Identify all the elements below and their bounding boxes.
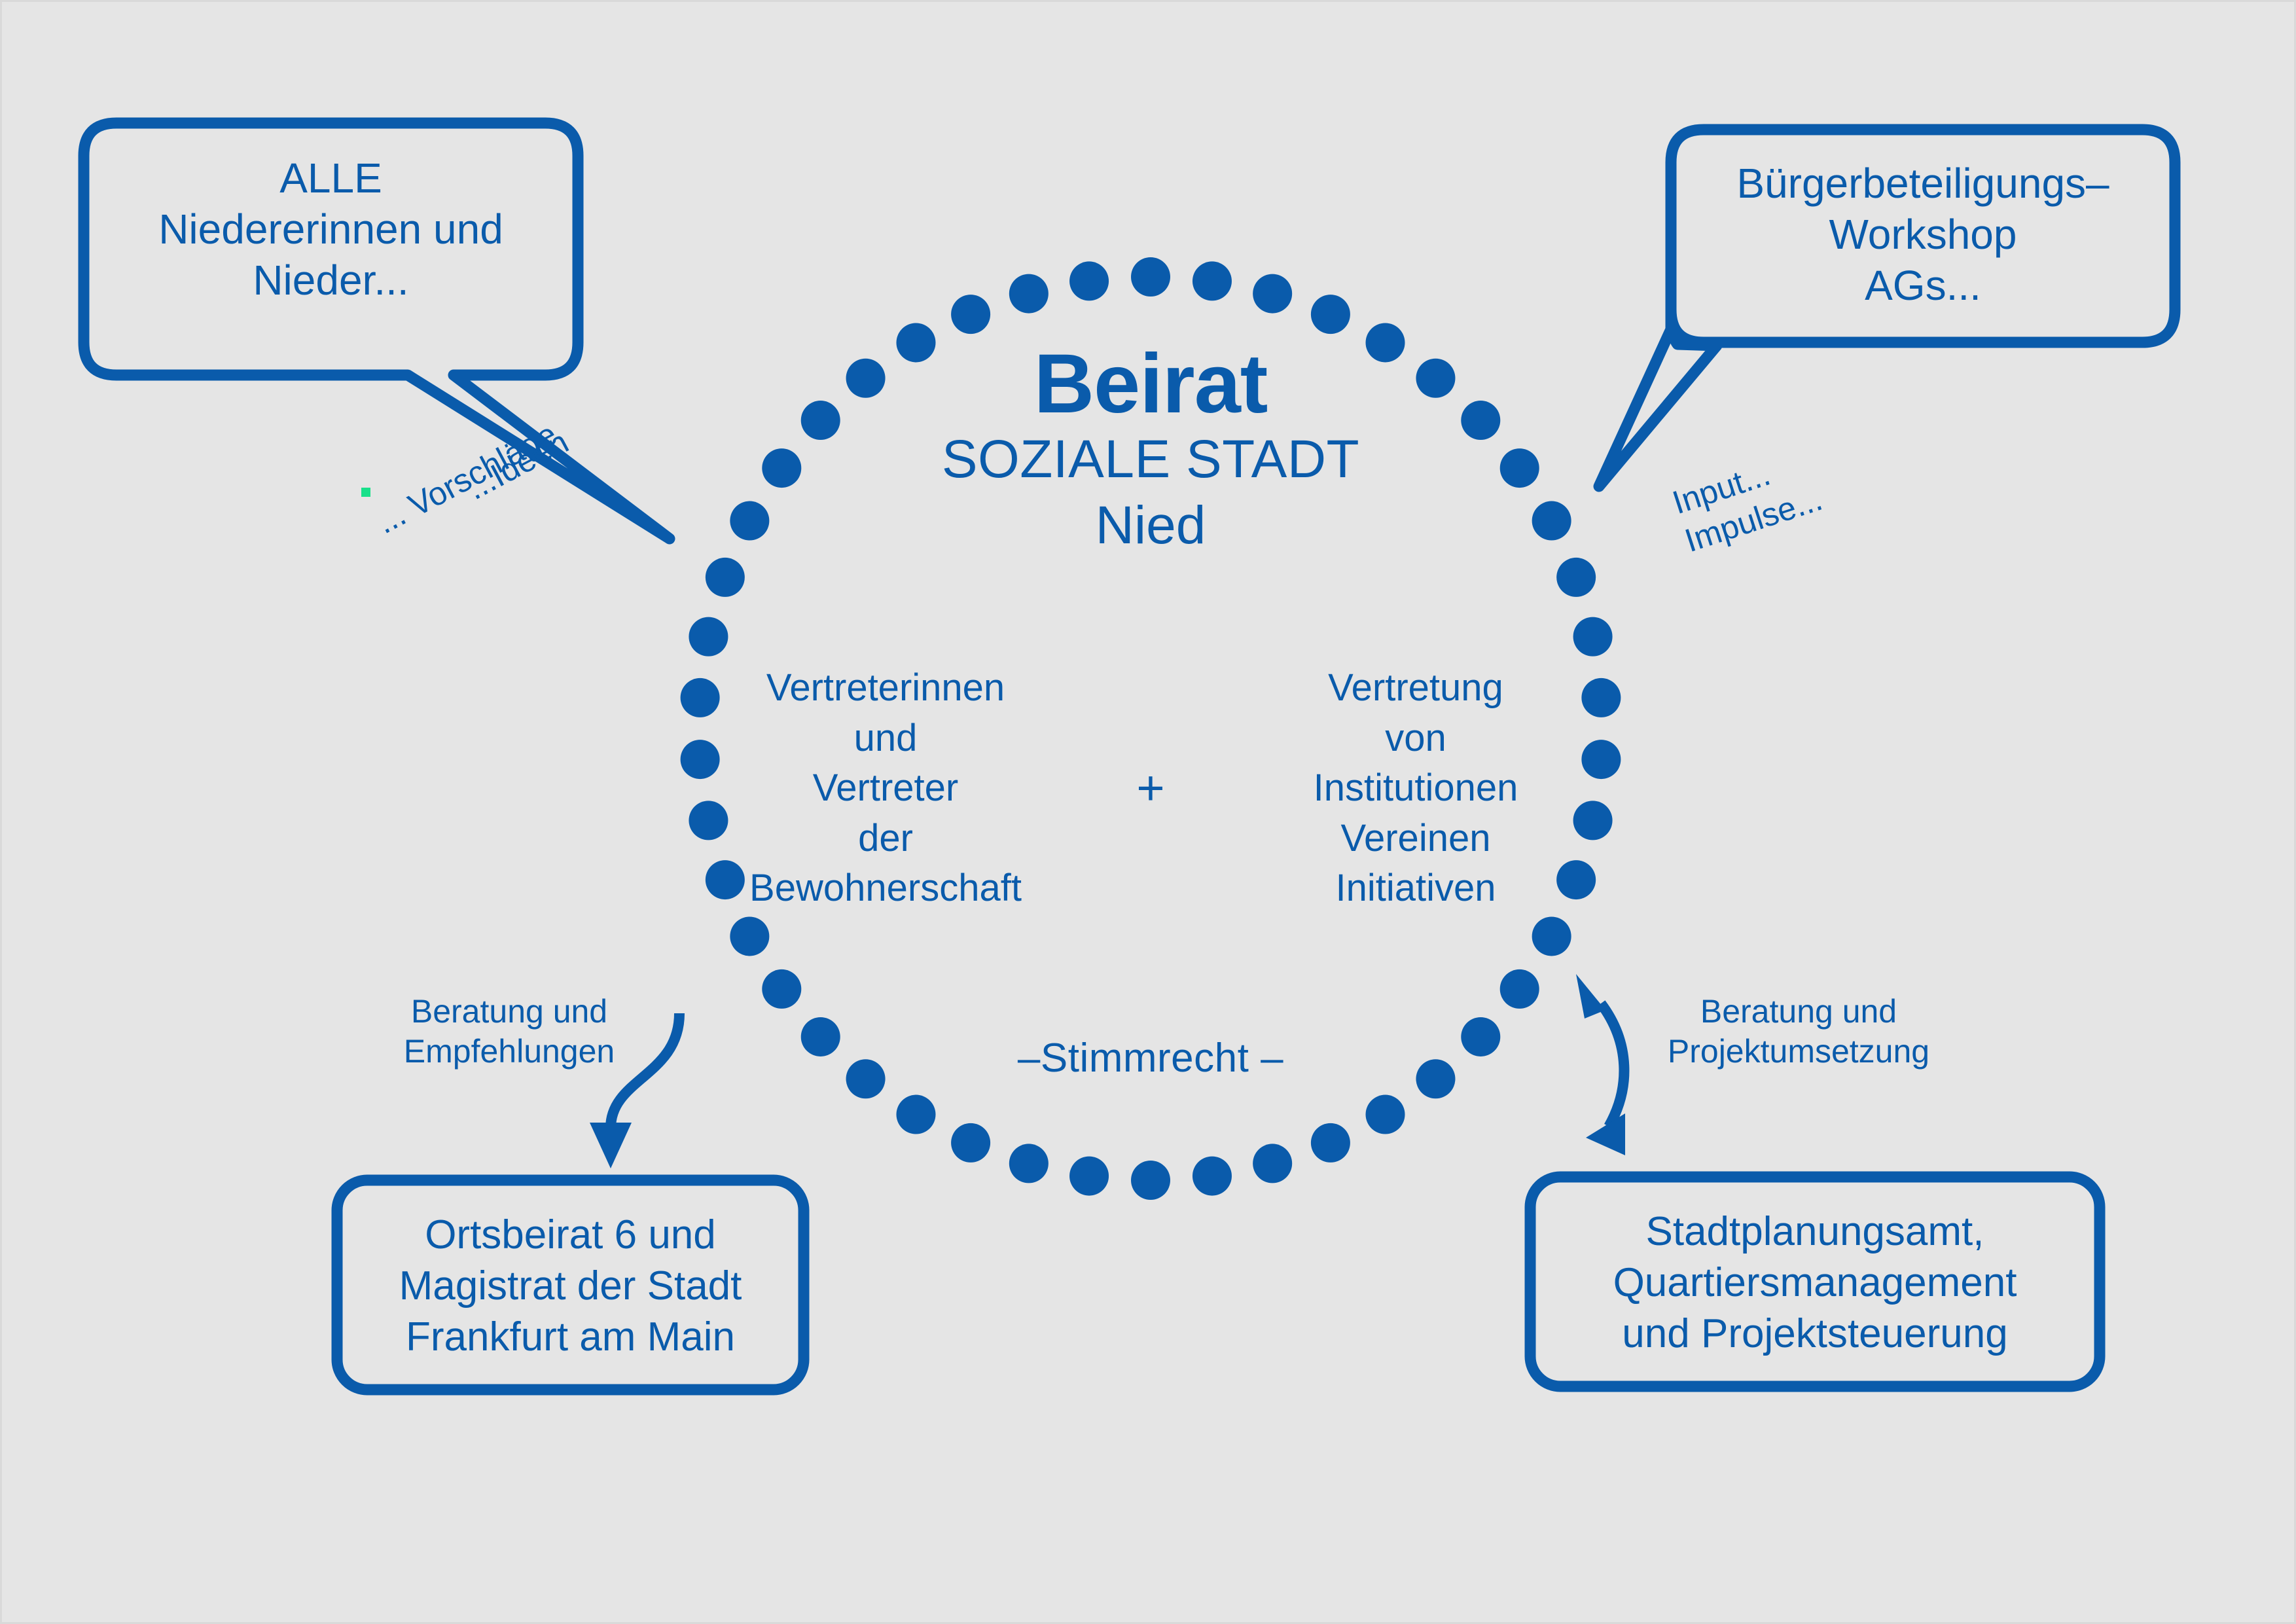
center-place: Nied xyxy=(761,494,1540,558)
ring-dot xyxy=(1131,257,1170,297)
ring-dot xyxy=(681,678,720,717)
box-ortsbeirat-line-3: Frankfurt am Main xyxy=(337,1312,804,1363)
bubble-alle-line-1: ALLE xyxy=(84,153,578,204)
ring-dot xyxy=(1069,1157,1109,1196)
composition-columns: Vertreterinnen und Vertreter der Bewohne… xyxy=(715,663,1586,914)
diagram-canvas: ALLE Niedererinnen und Nieder... Bürgerb… xyxy=(0,0,2296,1624)
bubble-buerger-line-3: AGs... xyxy=(1674,260,2172,311)
ring-dot xyxy=(951,295,990,334)
box-stadtplanungsamt-line-2: Quartiersmanagement xyxy=(1530,1257,2100,1308)
column-left-line-5: Bewohnerschaft xyxy=(715,863,1056,914)
ring-dot xyxy=(1131,1161,1170,1200)
annot-beratung-projektumsetzung: Beratung und Projektumsetzung xyxy=(1645,992,1952,1072)
annot-bp-line-1: Beratung und xyxy=(1645,992,1952,1032)
ring-dot xyxy=(1311,295,1350,334)
annot-beratung-empfehlungen: Beratung und Empfehlungen xyxy=(378,992,640,1072)
ring-dot xyxy=(1581,678,1621,717)
ring-dot xyxy=(1311,1123,1350,1163)
ring-dot xyxy=(1193,261,1232,300)
ring-dot xyxy=(730,916,769,956)
ring-dot xyxy=(681,740,720,779)
column-left-line-3: Vertreter xyxy=(715,763,1056,814)
ring-dot xyxy=(1253,274,1292,314)
column-left-line-2: und xyxy=(715,713,1056,764)
ring-dot xyxy=(1009,274,1049,314)
column-right-line-4: Vereinen xyxy=(1246,814,1586,864)
ring-dot xyxy=(1581,740,1621,779)
bubble-alle-text: ALLE Niedererinnen und Nieder... xyxy=(84,153,578,306)
bubble-alle-line-3: Nieder... xyxy=(84,255,578,306)
ring-dot xyxy=(1253,1144,1292,1183)
page-title: Beirat xyxy=(761,342,1540,426)
box-ortsbeirat-text: Ortsbeirat 6 und Magistrat der Stadt Fra… xyxy=(337,1210,804,1363)
plus-operator: + xyxy=(1121,764,1180,812)
ring-dot xyxy=(1069,261,1109,300)
bubble-buerger-line-1: Bürgerbeteiligungs– xyxy=(1674,158,2172,209)
ring-dot xyxy=(1573,617,1613,657)
box-stadtplanungsamt-line-1: Stadtplanungsamt, xyxy=(1530,1206,2100,1257)
annot-bp-line-2: Projektumsetzung xyxy=(1645,1032,1952,1072)
column-left-line-1: Vertreterinnen xyxy=(715,663,1056,713)
ring-dot xyxy=(1532,916,1571,956)
box-stadtplanungsamt-text: Stadtplanungsamt, Quartiersmanagement un… xyxy=(1530,1206,2100,1360)
box-stadtplanungsamt-line-3: und Projektsteuerung xyxy=(1530,1308,2100,1360)
column-right-line-2: von xyxy=(1246,713,1586,764)
ring-dot xyxy=(1009,1144,1049,1183)
green-marker-dot xyxy=(361,488,370,497)
column-right-line-1: Vertretung xyxy=(1246,663,1586,713)
column-right-line-5: Initiativen xyxy=(1246,863,1586,914)
column-institutionen: Vertretung von Institutionen Vereinen In… xyxy=(1246,663,1586,914)
bubble-buerger-text: Bürgerbeteiligungs– Workshop AGs... xyxy=(1674,158,2172,311)
ring-dot xyxy=(896,1095,935,1134)
center-subtitle: SOZIALE STADT xyxy=(761,426,1540,494)
ring-dot xyxy=(762,969,801,1009)
ring-dot xyxy=(1366,1095,1405,1134)
annot-be-line-2: Empfehlungen xyxy=(378,1032,640,1072)
ring-dot xyxy=(1193,1157,1232,1196)
stimmrecht-label: –Stimmrecht – xyxy=(761,1035,1540,1081)
ring-dot xyxy=(1500,969,1539,1009)
ring-dot xyxy=(689,617,728,657)
ring-dot xyxy=(951,1123,990,1163)
center-heading-block: Beirat SOZIALE STADT Nied xyxy=(761,342,1540,558)
box-ortsbeirat-line-1: Ortsbeirat 6 und xyxy=(337,1210,804,1261)
bubble-buerger-line-2: Workshop xyxy=(1674,209,2172,260)
bubble-alle-line-2: Niedererinnen und xyxy=(84,204,578,255)
column-left-line-4: der xyxy=(715,814,1056,864)
column-right-line-3: Institutionen xyxy=(1246,763,1586,814)
annot-be-line-1: Beratung und xyxy=(378,992,640,1032)
ring-dot xyxy=(1556,558,1596,597)
arrow-beratung-projektumsetzung xyxy=(1576,974,1625,1155)
column-bewohnerschaft: Vertreterinnen und Vertreter der Bewohne… xyxy=(715,663,1056,914)
box-ortsbeirat-line-2: Magistrat der Stadt xyxy=(337,1261,804,1312)
ring-dot xyxy=(706,558,745,597)
